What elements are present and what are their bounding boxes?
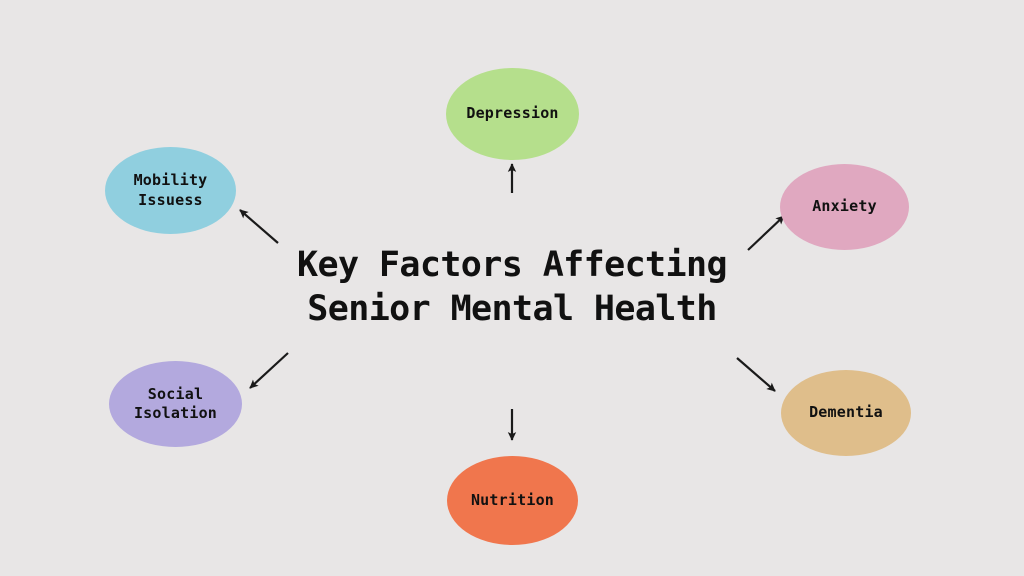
- arrow-to-dementia: [737, 358, 775, 391]
- node-dementia[interactable]: Dementia: [781, 370, 911, 456]
- arrow-to-anxiety: [748, 216, 784, 250]
- node-depression[interactable]: Depression: [446, 68, 579, 160]
- node-label-nutrition: Nutrition: [471, 491, 554, 510]
- node-label-depression: Depression: [466, 104, 558, 123]
- node-nutrition[interactable]: Nutrition: [447, 456, 578, 545]
- node-label-social-isolation: Social Isolation: [134, 385, 217, 423]
- node-label-mobility-issues: Mobility Issuess: [134, 171, 208, 209]
- node-anxiety[interactable]: Anxiety: [780, 164, 909, 250]
- diagram-canvas: Key Factors Affecting Senior Mental Heal…: [0, 0, 1024, 576]
- node-label-dementia: Dementia: [809, 403, 883, 422]
- node-mobility-issues[interactable]: Mobility Issuess: [105, 147, 236, 234]
- node-social-isolation[interactable]: Social Isolation: [109, 361, 242, 447]
- arrow-to-mobility-issues: [240, 210, 278, 243]
- node-label-anxiety: Anxiety: [812, 197, 877, 216]
- page-title: Key Factors Affecting Senior Mental Heal…: [282, 243, 742, 331]
- arrow-to-social-isolation: [250, 353, 288, 388]
